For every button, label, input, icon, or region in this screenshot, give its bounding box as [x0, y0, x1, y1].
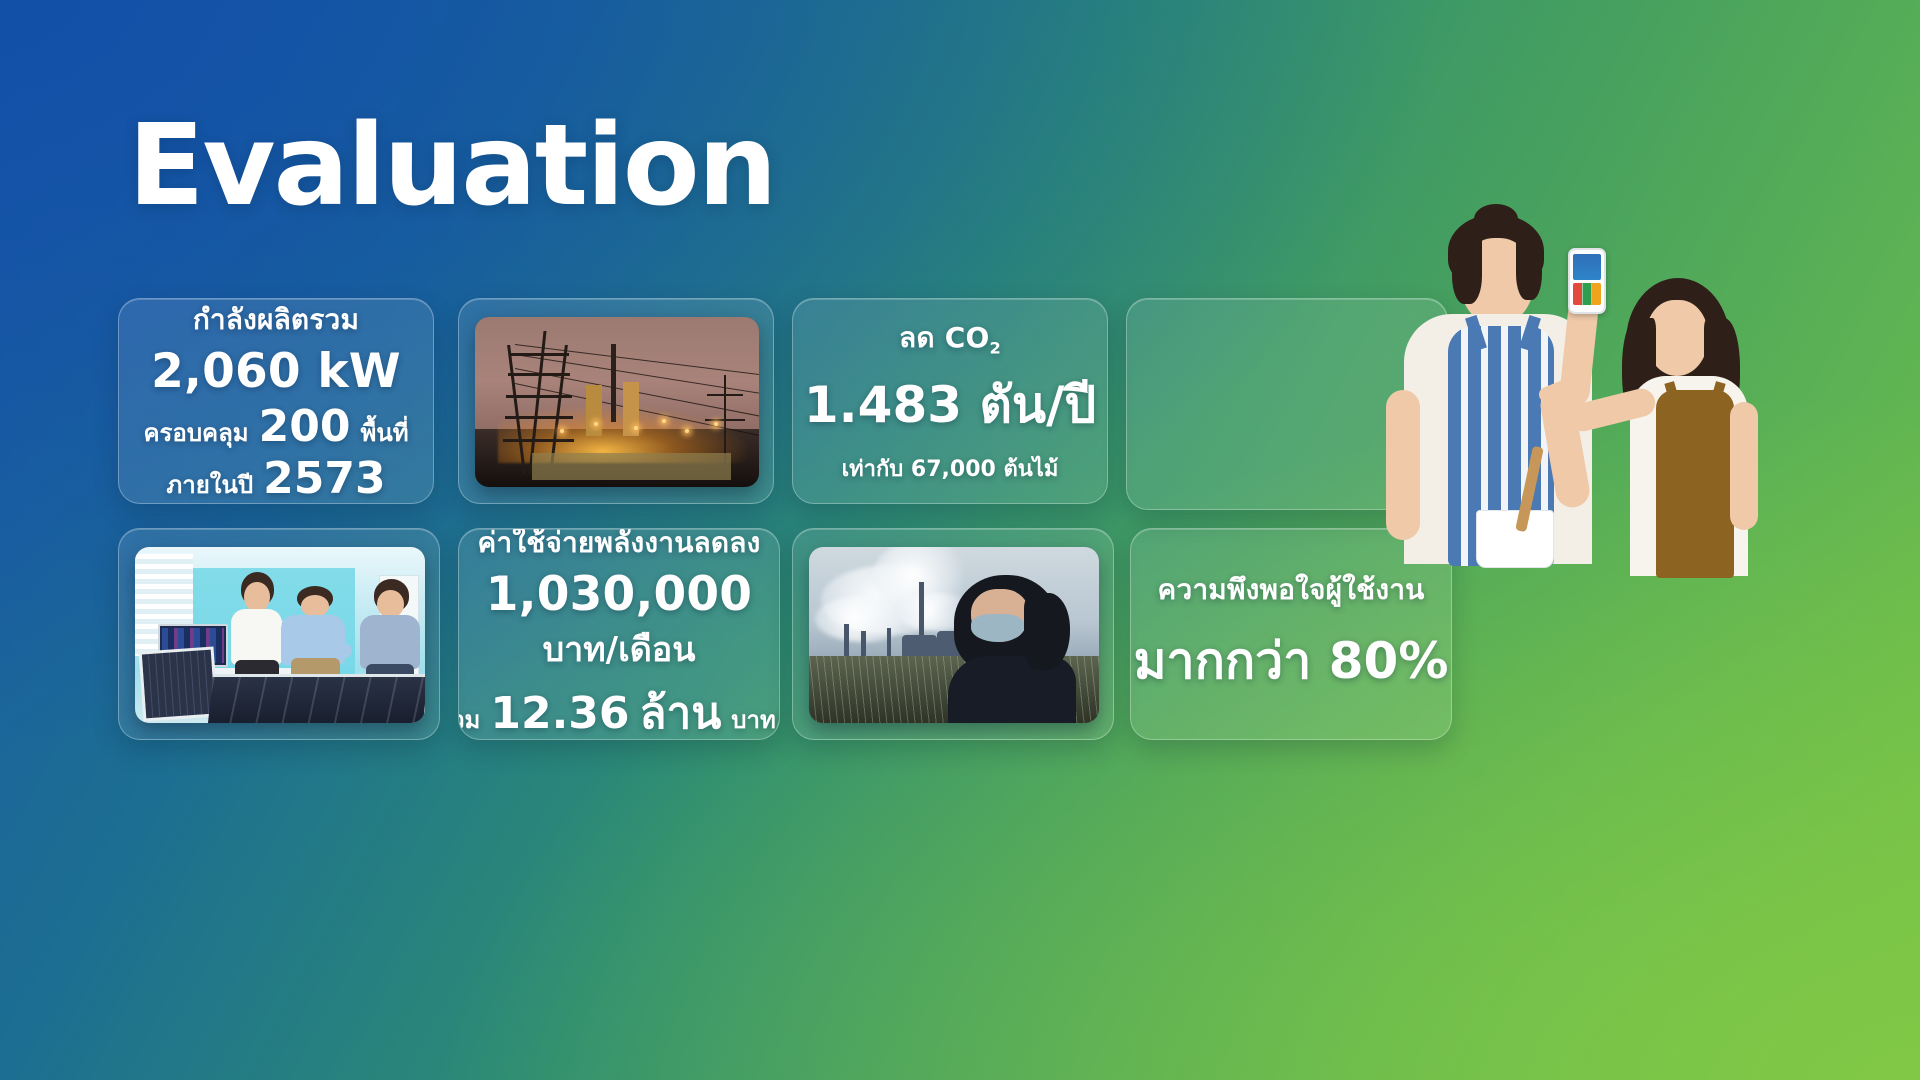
year-prefix: ภายในปี	[166, 465, 253, 504]
transmission-tower-icon	[503, 331, 574, 474]
co2-value: 1.483 ตัน/ปี	[804, 366, 1096, 445]
cooking-pot-icon	[1476, 510, 1554, 568]
brown-apron	[1656, 390, 1734, 578]
power-plant-image	[475, 317, 759, 487]
page-title: Evaluation	[128, 108, 775, 226]
cost-unit: บาท/เดือน	[543, 622, 696, 676]
pollution-photo	[809, 547, 1099, 723]
cost-stats: ค่าใช้จ่ายพลังงานลดลง 1,030,000 บาท/เดือ…	[459, 528, 779, 740]
co2-reduction-card: ลด CO2 1.483 ตัน/ปี เท่ากับ 67,000 ต้นไม…	[792, 298, 1108, 504]
slide-canvas: Evaluation กำลังผลิตรวม 2,060 kW ครอบคลุ…	[0, 0, 1920, 1080]
total-scale: ล้าน	[640, 678, 722, 741]
coverage-prefix: ครอบคลุม	[143, 413, 248, 452]
coverage-count: 200	[259, 401, 351, 452]
woman-cooking	[1378, 210, 1608, 580]
pollution-image	[809, 547, 1099, 723]
capacity-label: กำลังผลิตรวม	[193, 298, 359, 342]
co2-stats: ลด CO2 1.483 ตัน/ปี เท่ากับ 67,000 ต้นไม…	[793, 316, 1107, 486]
capacity-value: 2,060 kW	[151, 344, 401, 399]
co2-equivalent: เท่ากับ 67,000 ต้นไม้	[842, 451, 1059, 486]
solar-lab-photo	[135, 547, 425, 723]
total-capacity-stats: กำลังผลิตรวม 2,060 kW ครอบคลุม 200 พื้นท…	[119, 298, 433, 504]
co2-label: ลด CO2	[899, 316, 1001, 360]
total-prefix: รวม	[458, 700, 480, 739]
power-plant-photo	[475, 317, 759, 487]
two-women-cutout	[1360, 200, 1780, 600]
satisfaction-value: มากกว่า 80%	[1134, 622, 1449, 701]
total-unit: บาท/ปี	[731, 700, 780, 739]
small-solar-panel-icon	[138, 647, 218, 722]
cost-label: ค่าใช้จ่ายพลังงานลดลง	[477, 528, 760, 565]
woman-pointing	[1594, 278, 1770, 578]
coverage-unit: พื้นที่	[361, 413, 409, 452]
total-capacity-card: กำลังผลิตรวม 2,060 kW ครอบคลุม 200 พื้นท…	[118, 298, 434, 504]
power-plant-photo-card	[458, 298, 774, 504]
large-solar-panel-icon	[207, 674, 425, 723]
cost-value: 1,030,000	[486, 567, 752, 622]
energy-cost-savings-card: ค่าใช้จ่ายพลังงานลดลง 1,030,000 บาท/เดือ…	[458, 528, 780, 740]
co2-subscript: 2	[989, 339, 1001, 358]
air-pollution-photo-card	[792, 528, 1114, 740]
face-mask-icon	[971, 614, 1023, 642]
total-value: 12.36	[490, 688, 629, 739]
solar-panel-inspection-photo-card	[118, 528, 440, 740]
year-value: 2573	[263, 453, 385, 504]
solar-lab-image	[135, 547, 425, 723]
